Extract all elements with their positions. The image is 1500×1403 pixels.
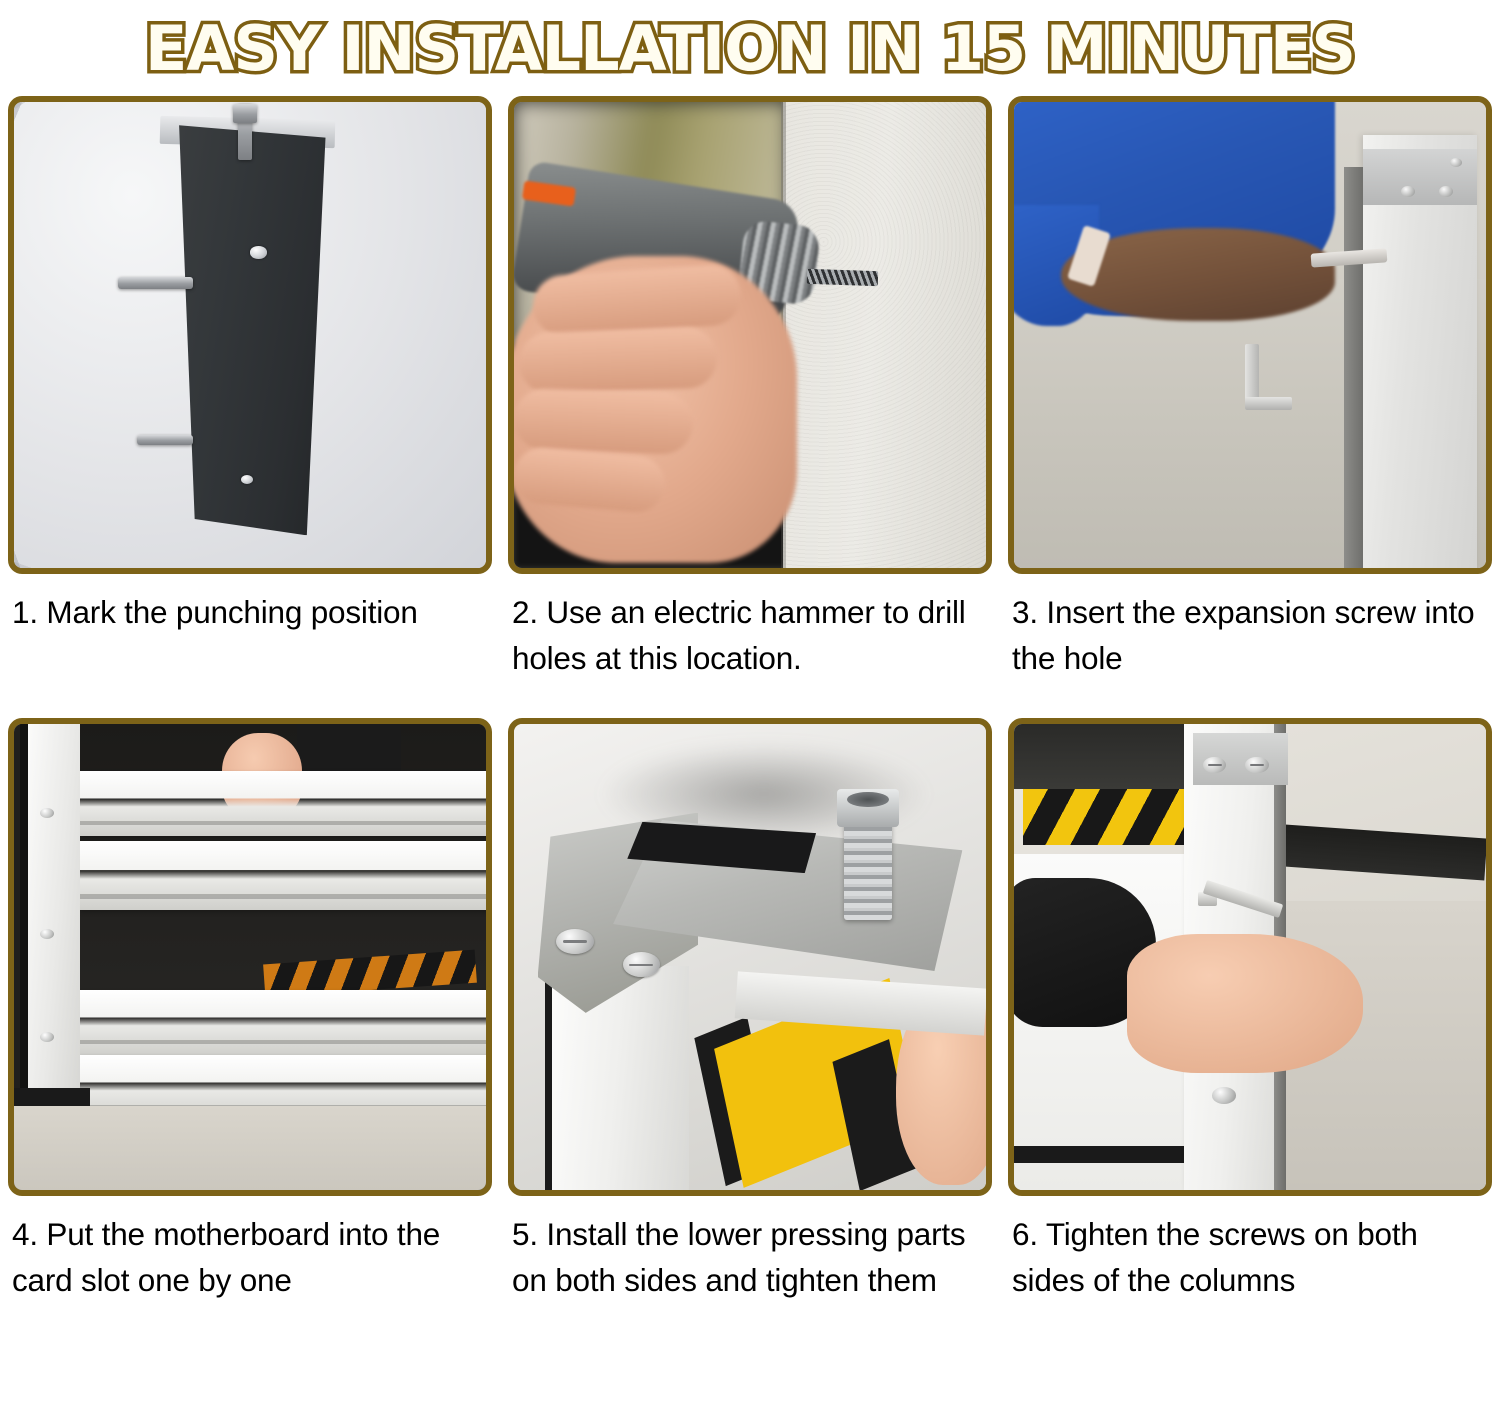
- pressing-part-photo: [508, 718, 992, 1196]
- column-top-plate: [1363, 149, 1476, 205]
- installer-hand: [1127, 934, 1363, 1074]
- lower-mounting-hole: [241, 475, 253, 484]
- step-caption-6: 6. Tighten the screws on both sides of t…: [1008, 1196, 1492, 1352]
- pressing-part-scene: [514, 724, 986, 1190]
- top-screw-2: [1245, 757, 1269, 774]
- insert-boards-photo: [8, 718, 492, 1196]
- column-screw-1: [1439, 186, 1453, 197]
- finger-2: [518, 327, 718, 394]
- bracket-on-cloth-scene: [14, 102, 486, 568]
- barrier-board-1: [80, 771, 486, 836]
- page-title-fill: EASY INSTALLATION IN 15 MINUTES: [145, 12, 1355, 85]
- step-card-4: 4. Put the motherboard into the card slo…: [8, 718, 492, 1352]
- insert-boards-scene: [14, 724, 486, 1190]
- steps-row-bottom: 4. Put the motherboard into the card slo…: [0, 718, 1500, 1352]
- tighten-screws-scene: [1014, 724, 1486, 1190]
- dark-column-bracket: [170, 125, 326, 535]
- step-caption-2: 2. Use an electric hammer to drill holes…: [508, 574, 992, 718]
- step-card-6: 6. Tighten the screws on both sides of t…: [1008, 718, 1492, 1352]
- step-caption-1: 1. Mark the punching position: [8, 574, 492, 718]
- upper-dark-area: [1014, 724, 1184, 789]
- middle-bolt: [118, 277, 194, 289]
- white-column-body: [547, 966, 689, 1190]
- barrier-board-2: [80, 841, 486, 911]
- step-card-2: 2. Use an electric hammer to drill holes…: [508, 96, 992, 718]
- page-header: EASY INSTALLATION IN 15 MINUTES EASY INS…: [0, 0, 1500, 96]
- column-dark-edge: [1344, 167, 1363, 568]
- step-caption-4: 4. Put the motherboard into the card slo…: [8, 1196, 492, 1352]
- step-card-3: 3. Insert the expansion screw into the h…: [1008, 96, 1492, 718]
- upper-mounting-hole: [250, 246, 267, 258]
- textured-white-wall: [783, 102, 986, 568]
- page-title: EASY INSTALLATION IN 15 MINUTES EASY INS…: [145, 12, 1355, 85]
- tighten-screws-photo: [1008, 718, 1492, 1196]
- barrier-board-3: [80, 990, 486, 1055]
- step-caption-5: 5. Install the lower pressing parts on b…: [508, 1196, 992, 1352]
- step-card-5: 5. Install the lower pressing parts on b…: [508, 718, 992, 1352]
- expansion-screw-photo: [1008, 96, 1492, 574]
- floor-surface: [14, 1106, 486, 1190]
- step-card-1: 1. Mark the punching position: [8, 96, 492, 718]
- hazard-stripe-tape: [1023, 789, 1183, 845]
- step-caption-3: 3. Insert the expansion screw into the h…: [1008, 574, 1492, 718]
- white-column-with-slot: [28, 724, 80, 1115]
- finger-3: [514, 388, 694, 455]
- top-bolt-head: [233, 104, 257, 123]
- masonry-drill-bit: [806, 269, 877, 286]
- lower-screw: [1212, 1087, 1236, 1104]
- bracket-on-cloth-photo: [8, 96, 492, 574]
- drilling-wall-photo: [508, 96, 992, 574]
- column-slot-screw-3: [40, 1032, 54, 1042]
- drilling-wall-scene: [514, 102, 986, 568]
- steps-row-top: 1. Mark the punching position 2. Use an …: [0, 96, 1500, 718]
- column-dark-edge: [545, 966, 553, 1190]
- lower-bolt: [137, 435, 194, 445]
- allen-key-on-floor: [1245, 344, 1259, 409]
- expansion-screw-scene: [1014, 102, 1486, 568]
